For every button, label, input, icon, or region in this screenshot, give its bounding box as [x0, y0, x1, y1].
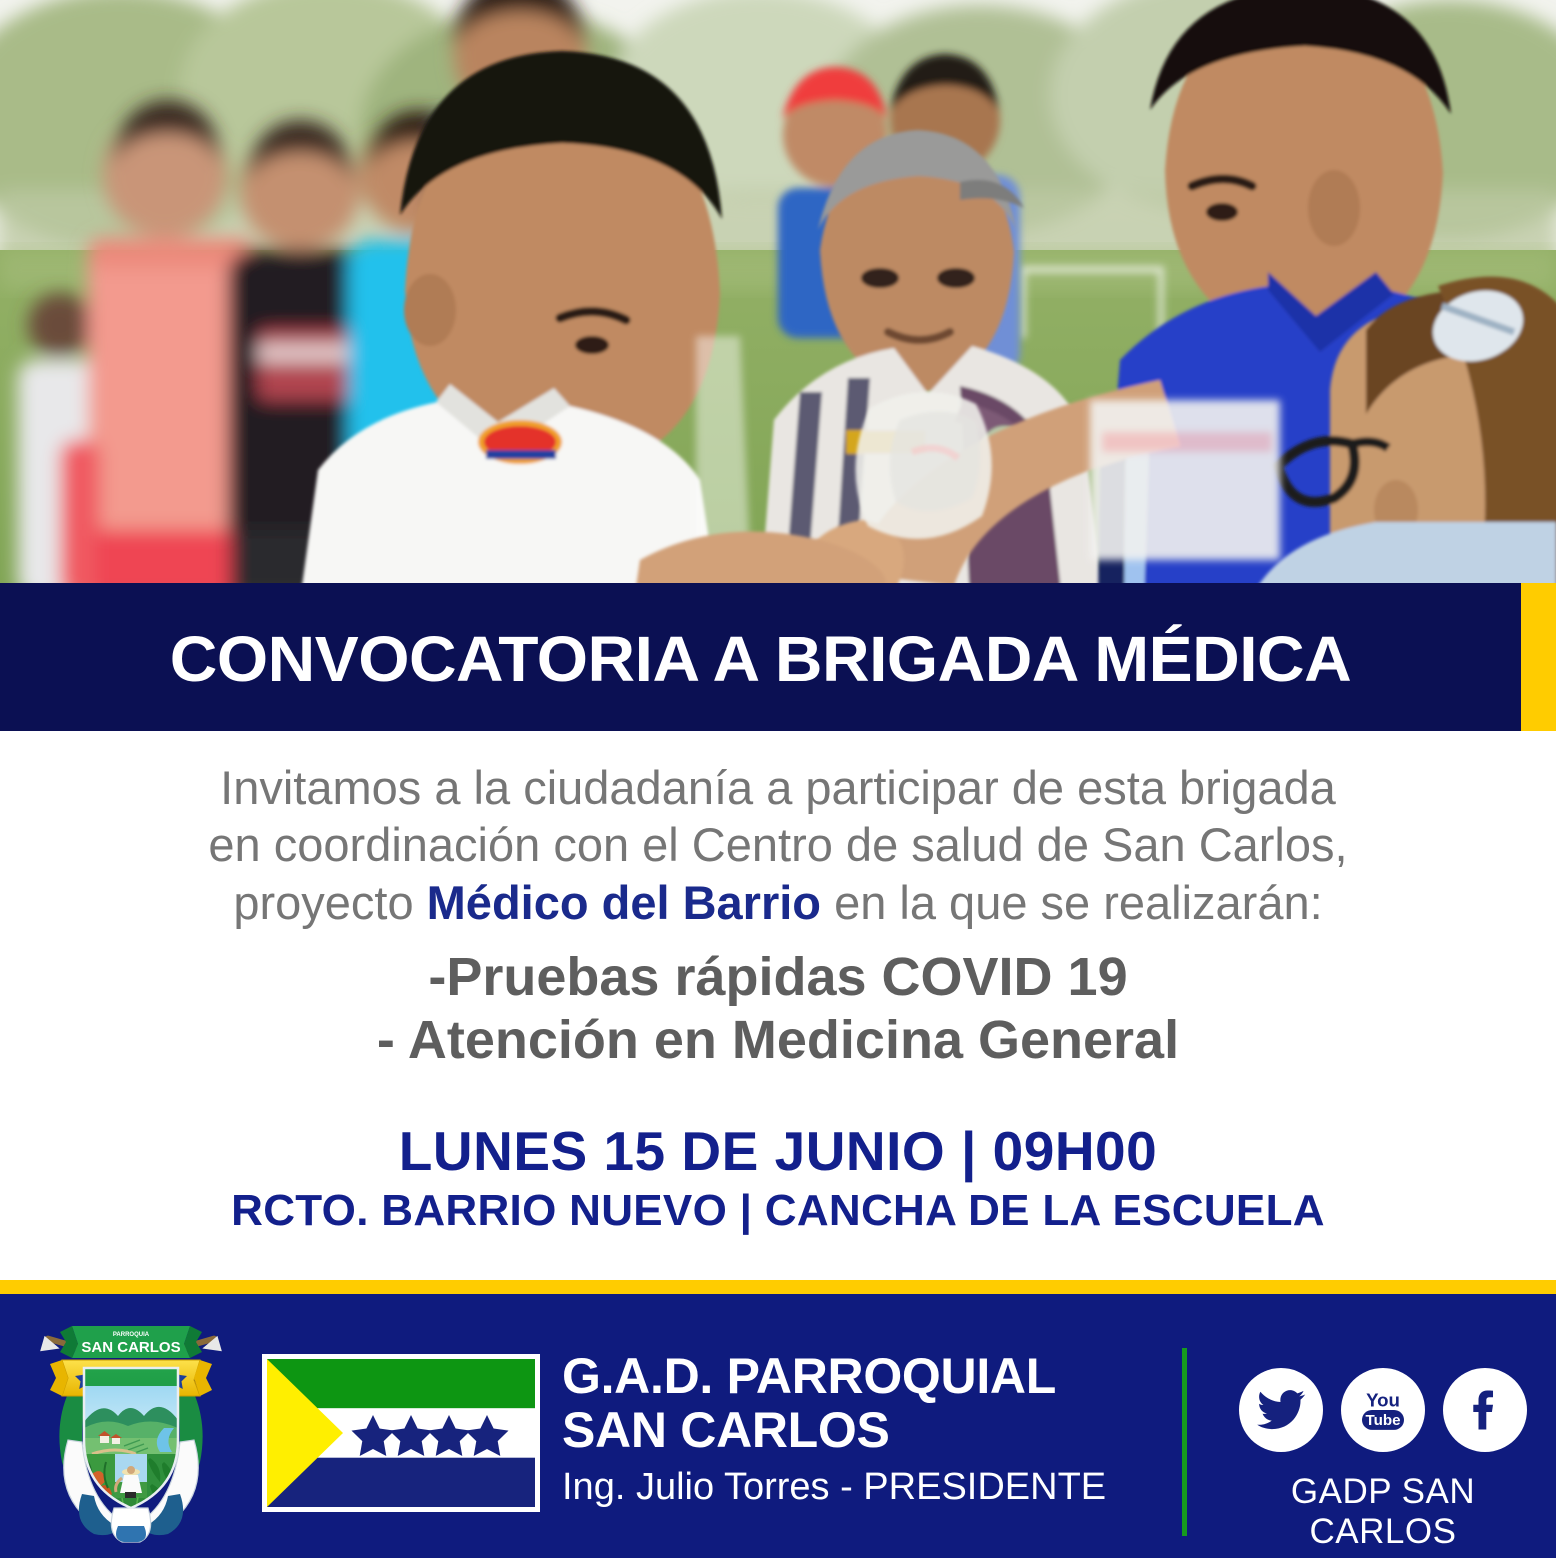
crest-name: SAN CARLOS [81, 1339, 180, 1356]
coat-of-arms-svg: PARROQUIA SAN CARLOS [36, 1312, 226, 1544]
event-location: RCTO. BARRIO NUEVO | CANCHA DE LA ESCUEL… [0, 1184, 1556, 1238]
intro-line-3-pre: proyecto [233, 876, 426, 929]
intro-paragraph: Invitamos a la ciudadanía a participar d… [0, 759, 1556, 931]
coat-of-arms-icon: PARROQUIA SAN CARLOS [36, 1312, 226, 1544]
intro-line-2: en coordinación con el Centro de salud d… [60, 816, 1496, 873]
poster-root: CONVOCATORIA A BRIGADA MÉDICA Invitamos … [0, 0, 1556, 1558]
org-line-1: G.A.D. PARROQUIAL [562, 1350, 1182, 1404]
svg-text:You: You [1366, 1390, 1400, 1411]
intro-line-3: proyecto Médico del Barrio en la que se … [60, 874, 1496, 931]
twitter-icon[interactable] [1239, 1368, 1323, 1452]
parish-flag-icon [262, 1354, 540, 1512]
facebook-icon[interactable] [1443, 1368, 1527, 1452]
services-list: -Pruebas rápidas COVID 19 - Atención en … [0, 946, 1556, 1071]
page-title: CONVOCATORIA A BRIGADA MÉDICA [170, 627, 1351, 691]
youtube-icon[interactable]: You Tube [1341, 1368, 1425, 1452]
org-president: Ing. Julio Torres - PRESIDENTE [562, 1463, 1182, 1512]
twitter-bird-glyph [1255, 1384, 1307, 1436]
body-section: Invitamos a la ciudadanía a participar d… [0, 731, 1556, 1280]
social-block: You Tube GADP SAN CARLOS [1228, 1368, 1538, 1552]
organization-block: G.A.D. PARROQUIAL SAN CARLOS Ing. Julio … [562, 1350, 1182, 1512]
intro-line-1: Invitamos a la ciudadanía a participar d… [60, 759, 1496, 816]
title-banner: CONVOCATORIA A BRIGADA MÉDICA [0, 583, 1521, 731]
facebook-f-glyph [1459, 1384, 1511, 1436]
social-icon-row: You Tube [1228, 1368, 1538, 1452]
youtube-glyph: You Tube [1355, 1382, 1411, 1438]
photo-illustration [0, 0, 1556, 600]
service-item-covid-test: -Pruebas rápidas COVID 19 [0, 946, 1556, 1009]
service-item-general-medicine: - Atención en Medicina General [0, 1009, 1556, 1072]
intro-line-3-post: en la que se realizarán: [821, 876, 1323, 929]
header-photo [0, 0, 1556, 600]
project-name: Médico del Barrio [427, 876, 821, 929]
footer-vertical-divider [1182, 1348, 1187, 1536]
org-line-2: SAN CARLOS [562, 1404, 1182, 1458]
crest-motto-small: PARROQUIA [113, 1332, 150, 1338]
parish-flag-svg [267, 1359, 535, 1507]
banner-accent-stripe [1521, 583, 1556, 731]
event-date-time: LUNES 15 DE JUNIO | 09H00 [0, 1119, 1556, 1184]
event-details: LUNES 15 DE JUNIO | 09H00 RCTO. BARRIO N… [0, 1119, 1556, 1238]
svg-text:Tube: Tube [1365, 1412, 1400, 1429]
social-handle: GADP SAN CARLOS [1228, 1472, 1538, 1552]
footer-divider-stripe [0, 1280, 1556, 1294]
